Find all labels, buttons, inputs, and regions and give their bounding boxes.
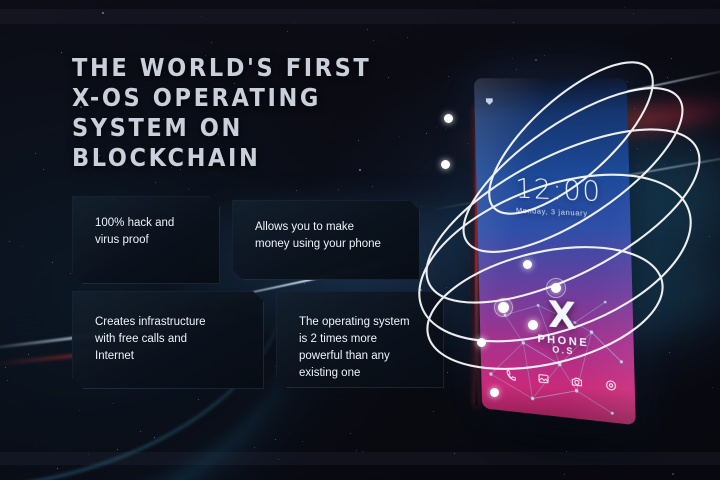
slide-canvas: THE WORLD'S FIRST X-OS OPERATING SYSTEM …: [0, 0, 720, 480]
phone-body: 12:00 Monday, 3 january: [474, 78, 636, 425]
feature-card-text: 100% hack and virus proof: [95, 213, 201, 249]
phone-screen-reflection: [474, 78, 636, 425]
phone-mockup: 12:00 Monday, 3 january: [478, 78, 648, 423]
feature-card-text: Creates infrastructure with free calls a…: [95, 308, 245, 365]
feature-card-hack-proof[interactable]: 100% hack and virus proof: [72, 196, 220, 284]
feature-card-infrastructure[interactable]: Creates infrastructure with free calls a…: [72, 291, 264, 389]
feature-card-performance[interactable]: The operating system is 2 times more pow…: [276, 291, 444, 388]
feature-card-text: The operating system is 2 times more pow…: [299, 308, 425, 382]
feature-card-make-money[interactable]: Allows you to make money using your phon…: [232, 200, 420, 280]
feature-card-text: Allows you to make money using your phon…: [255, 217, 401, 253]
